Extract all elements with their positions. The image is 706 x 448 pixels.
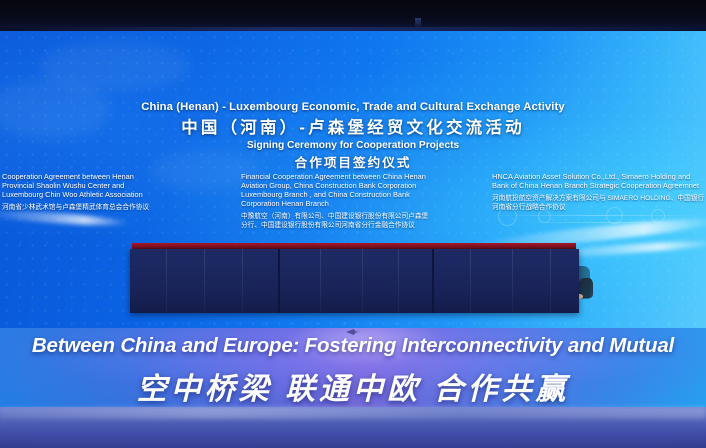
banner-english-slogan: Between China and Europe: Fostering Inte…	[0, 334, 706, 358]
stage-floor-reflection	[0, 407, 706, 419]
agreement-english-text: Cooperation Agreement between Henan Prov…	[2, 172, 154, 199]
lower-banner: Between China and Europe: Fostering Inte…	[0, 328, 706, 408]
signing-table-area	[0, 243, 706, 333]
table-skirt-fold	[320, 249, 321, 313]
table-skirt-fold	[166, 249, 167, 313]
agreement-column-3: HNCA Aviation Asset Solution Co.,Ltd., S…	[492, 172, 705, 212]
agreement-column-1: Cooperation Agreement between Henan Prov…	[2, 172, 154, 213]
agreement-chinese-text: 河南省少林武术馆与卢森堡精武体育总会合作协议	[2, 204, 154, 213]
signing-ceremony-screenshot: China (Henan) - Luxembourg Economic, Tra…	[0, 0, 706, 448]
backdrop-circuit-line	[492, 215, 706, 216]
agreement-chinese-text: 河南航投航空资产解决方案有限公司与 SIMAERO HOLDING、中国银行河南…	[492, 195, 705, 212]
agreement-english-text: HNCA Aviation Asset Solution Co.,Ltd., S…	[492, 172, 705, 190]
headline-english-title: China (Henan) - Luxembourg Economic, Tra…	[0, 101, 706, 113]
table-skirt-seam	[278, 249, 280, 313]
headline-english-subtitle: Signing Ceremony for Cooperation Project…	[0, 140, 706, 151]
table-skirt-fold	[204, 249, 205, 313]
table-skirt-fold	[398, 249, 399, 313]
table-skirt-fold	[242, 249, 243, 313]
table-skirt-fold	[362, 249, 363, 313]
table-skirt	[130, 249, 579, 313]
headline-chinese-subtitle: 合作项目签约仪式	[0, 152, 706, 171]
banner-chinese-slogan: 空中桥梁 联通中欧 合作共赢	[0, 364, 706, 408]
table-skirt-fold	[470, 249, 471, 313]
headline-block: China (Henan) - Luxembourg Economic, Tra…	[0, 101, 706, 171]
agreement-english-text: Financial Cooperation Agreement between …	[241, 172, 431, 208]
table-skirt-seam	[432, 249, 434, 313]
agreement-column-2: Financial Cooperation Agreement between …	[241, 172, 431, 231]
agreement-chinese-text: 中豫航空（河南）有限公司、中国建设银行股份有限公司卢森堡分行、中国建设银行股份有…	[241, 213, 431, 230]
backdrop-map-shape	[40, 41, 190, 91]
table-skirt-fold	[550, 249, 551, 313]
table-skirt-fold	[512, 249, 513, 313]
headline-chinese-title: 中国（河南）-卢森堡经贸文化交流活动	[0, 114, 706, 138]
